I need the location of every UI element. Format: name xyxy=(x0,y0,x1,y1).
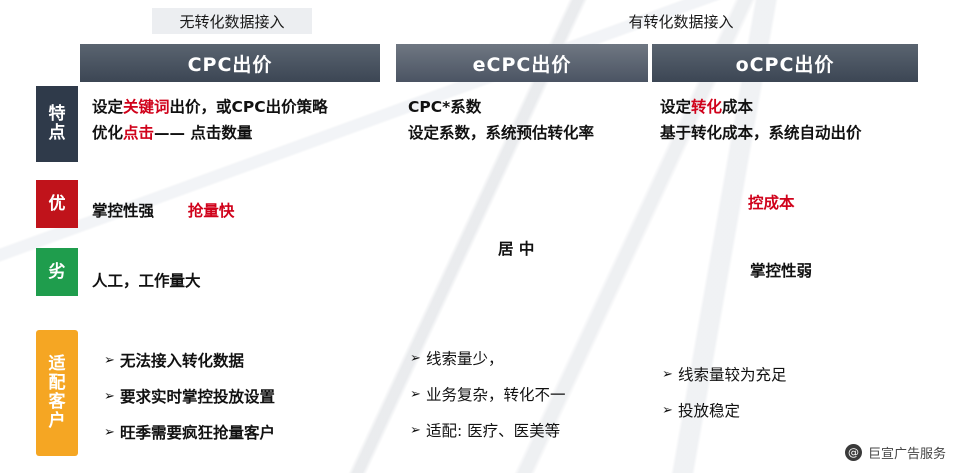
fit-list-cpc: ➢ 无法接入转化数据 ➢ 要求实时掌控投放设置 ➢ 旺季需要疯狂抢量客户 xyxy=(104,350,275,458)
arrow-bullet-icon: ➢ xyxy=(104,350,120,372)
list-item: ➢ 线索量较为充足 xyxy=(662,364,787,386)
row-badge-fit-char3: 客 xyxy=(49,393,66,412)
feature-ocpc-line1-part1: 设定 xyxy=(660,98,691,116)
feature-cell-ocpc: 设定转化成本 基于转化成本，系统自动出价 xyxy=(660,94,922,146)
watermark-text: 巨宣广告服务 xyxy=(868,443,946,462)
group-label-no-conversion-data: 无转化数据接入 xyxy=(152,8,312,34)
feature-cpc-line2-highlight: 点击 xyxy=(123,124,154,142)
row-badge-pro: 优 xyxy=(36,180,78,228)
arrow-bullet-icon: ➢ xyxy=(104,386,120,408)
arrow-bullet-icon: ➢ xyxy=(662,400,678,422)
con-cell-cpc: 人工，工作量大 xyxy=(92,268,201,294)
feature-ocpc-line1-part2: 成本 xyxy=(722,98,753,116)
fit-cpc-item-0: 无法接入转化数据 xyxy=(120,350,244,372)
fit-ecpc-item-2: 适配: 医疗、医美等 xyxy=(426,420,560,442)
feature-cpc-line2-part1: 优化 xyxy=(92,124,123,142)
row-badge-fit: 适 配 客 户 xyxy=(36,330,78,456)
feature-ecpc-line2: 设定系数，系统预估转化率 xyxy=(408,120,658,146)
watermark: @ 巨宣广告服务 xyxy=(837,440,954,465)
con-cell-ocpc: 掌控性弱 xyxy=(750,258,812,284)
feature-cpc-line2-part2: —— 点击数量 xyxy=(154,124,252,142)
feature-cpc-line1: 设定关键词出价，或CPC出价策略 xyxy=(92,94,392,120)
feature-cell-ecpc: CPC*系数 设定系数，系统预估转化率 xyxy=(408,94,658,146)
fit-list-ocpc: ➢ 线索量较为充足 ➢ 投放稳定 xyxy=(662,364,787,436)
fit-ocpc-item-0: 线索量较为充足 xyxy=(678,364,787,386)
row-badge-fit-char2: 配 xyxy=(49,374,66,393)
fit-ocpc-item-1: 投放稳定 xyxy=(678,400,740,422)
list-item: ➢ 无法接入转化数据 xyxy=(104,350,275,372)
row-badge-fit-char1: 适 xyxy=(49,355,66,374)
list-item: ➢ 业务复杂，转化不一 xyxy=(410,384,566,406)
column-header-ocpc: oCPC出价 xyxy=(652,44,918,82)
fit-ecpc-item-1: 业务复杂，转化不一 xyxy=(426,384,566,406)
feature-cpc-line1-highlight: 关键词 xyxy=(123,98,170,116)
feature-ecpc-line1: CPC*系数 xyxy=(408,94,658,120)
group-label-with-conversion-data: 有转化数据接入 xyxy=(596,8,766,34)
list-item: ➢ 旺季需要疯狂抢量客户 xyxy=(104,422,275,444)
arrow-bullet-icon: ➢ xyxy=(104,422,120,444)
fit-list-ecpc: ➢ 线索量少， ➢ 业务复杂，转化不一 ➢ 适配: 医疗、医美等 xyxy=(410,348,566,456)
pro-cell-cpc: 掌控性强 抢量快 xyxy=(92,198,234,224)
row-badge-fit-char4: 户 xyxy=(49,412,66,431)
fit-ecpc-item-0: 线索量少， xyxy=(426,348,504,370)
row-badge-con: 劣 xyxy=(36,248,78,296)
column-header-cpc: CPC出价 xyxy=(80,44,380,82)
list-item: ➢ 线索量少， xyxy=(410,348,566,370)
feature-ocpc-line2: 基于转化成本，系统自动出价 xyxy=(660,120,922,146)
arrow-bullet-icon: ➢ xyxy=(410,420,426,442)
feature-cpc-line2: 优化点击—— 点击数量 xyxy=(92,120,392,146)
at-sign-icon: @ xyxy=(845,444,862,461)
comparison-table: 无转化数据接入 有转化数据接入 CPC出价 eCPC出价 oCPC出价 特 点 … xyxy=(0,0,964,473)
arrow-bullet-icon: ➢ xyxy=(410,384,426,406)
column-header-ecpc: eCPC出价 xyxy=(396,44,648,82)
list-item: ➢ 适配: 医疗、医美等 xyxy=(410,420,566,442)
pro-cpc-text: 掌控性强 xyxy=(92,202,154,220)
row-badge-feature-char1: 特 xyxy=(49,105,66,124)
row-badge-feature-char2: 点 xyxy=(49,124,66,143)
row-badge-feature: 特 点 xyxy=(36,86,78,162)
arrow-bullet-icon: ➢ xyxy=(410,348,426,370)
fit-cpc-item-2: 旺季需要疯狂抢量客户 xyxy=(120,422,275,444)
pro-cell-ocpc: 控成本 xyxy=(748,190,795,216)
arrow-bullet-icon: ➢ xyxy=(662,364,678,386)
list-item: ➢ 投放稳定 xyxy=(662,400,787,422)
feature-ocpc-line1-highlight: 转化 xyxy=(691,98,722,116)
feature-cell-cpc: 设定关键词出价，或CPC出价策略 优化点击—— 点击数量 xyxy=(92,94,392,146)
feature-cpc-line1-part2: 出价，或CPC出价策略 xyxy=(170,98,328,116)
list-item: ➢ 要求实时掌控投放设置 xyxy=(104,386,275,408)
pro-cpc-highlight: 抢量快 xyxy=(188,202,235,220)
feature-ocpc-line1: 设定转化成本 xyxy=(660,94,922,120)
fit-cpc-item-1: 要求实时掌控投放设置 xyxy=(120,386,275,408)
feature-cpc-line1-part1: 设定 xyxy=(92,98,123,116)
pro-cell-ecpc: 居 中 xyxy=(498,236,534,262)
